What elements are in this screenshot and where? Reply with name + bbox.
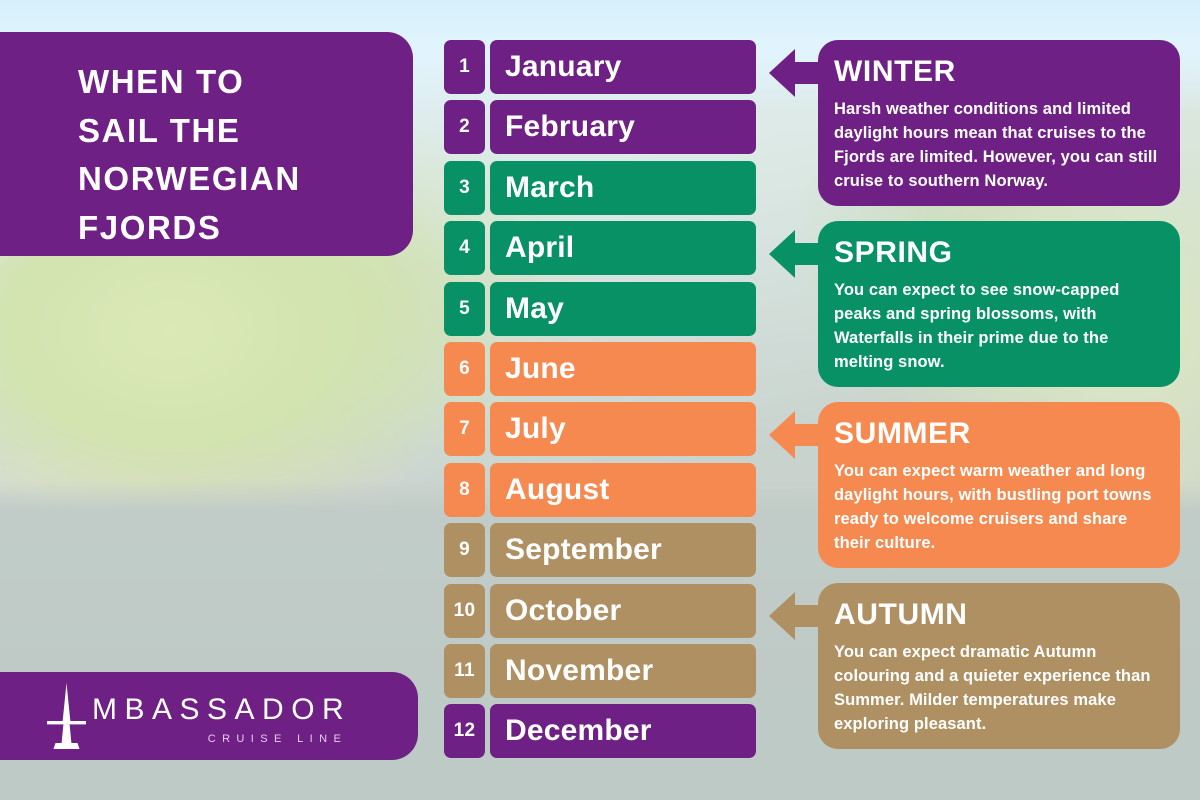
season-body-summer: You can expect warm weather and long day… [834, 459, 1158, 556]
month-number-badge: 3 [444, 161, 485, 215]
month-row[interactable]: 12December [444, 704, 756, 758]
season-title-summer: SUMMER [834, 418, 1158, 450]
page-title: WHEN TO SAIL THE NORWEGIAN FJORDS [78, 58, 301, 252]
season-body-autumn: You can expect dramatic Autumn colouring… [834, 640, 1158, 737]
month-number-badge: 4 [444, 221, 485, 275]
month-number-badge: 5 [444, 282, 485, 336]
month-row[interactable]: 9September [444, 523, 756, 577]
ambassador-a-monogram-icon [44, 683, 90, 749]
month-label: January [490, 40, 756, 94]
month-label: June [490, 342, 756, 396]
season-panel-autumn: AUTUMN You can expect dramatic Autumn co… [818, 583, 1180, 749]
brand-tagline: CRUISE LINE [92, 734, 351, 745]
month-label: February [490, 100, 756, 154]
infographic-canvas: WHEN TO SAIL THE NORWEGIAN FJORDS 1Janua… [0, 0, 1200, 800]
month-label: July [490, 402, 756, 456]
title-card: WHEN TO SAIL THE NORWEGIAN FJORDS [0, 32, 413, 256]
month-label: March [490, 161, 756, 215]
season-body-spring: You can expect to see snow-capped peaks … [834, 278, 1158, 375]
season-title-winter: WINTER [834, 56, 1158, 88]
month-row[interactable]: 4April [444, 221, 756, 275]
month-label: November [490, 644, 756, 698]
month-row[interactable]: 7July [444, 402, 756, 456]
month-number-badge: 1 [444, 40, 485, 94]
brand-logo-card: MBASSADOR CRUISE LINE [0, 672, 418, 760]
month-label: May [490, 282, 756, 336]
month-label: August [490, 463, 756, 517]
month-number-badge: 2 [444, 100, 485, 154]
month-number-badge: 7 [444, 402, 485, 456]
brand-logo-wordmark: MBASSADOR CRUISE LINE [92, 695, 351, 749]
month-number-badge: 10 [444, 584, 485, 638]
month-row[interactable]: 1January [444, 40, 756, 94]
month-number-badge: 9 [444, 523, 485, 577]
month-label: December [490, 704, 756, 758]
month-row[interactable]: 5May [444, 282, 756, 336]
month-row[interactable]: 8August [444, 463, 756, 517]
month-label: April [490, 221, 756, 275]
brand-name: MBASSADOR [92, 695, 351, 725]
season-body-winter: Harsh weather conditions and limited day… [834, 97, 1158, 194]
month-label: October [490, 584, 756, 638]
season-title-autumn: AUTUMN [834, 599, 1158, 631]
month-row[interactable]: 3March [444, 161, 756, 215]
month-row[interactable]: 6June [444, 342, 756, 396]
season-panel-spring: SPRING You can expect to see snow-capped… [818, 221, 1180, 387]
month-label: September [490, 523, 756, 577]
month-list: 1January2February3March4April5May6June7J… [444, 40, 756, 765]
month-row[interactable]: 11November [444, 644, 756, 698]
month-number-badge: 6 [444, 342, 485, 396]
season-title-spring: SPRING [834, 237, 1158, 269]
brand-logo: MBASSADOR CRUISE LINE [44, 683, 351, 749]
season-panel-winter: WINTER Harsh weather conditions and limi… [818, 40, 1180, 206]
month-row[interactable]: 10October [444, 584, 756, 638]
month-number-badge: 8 [444, 463, 485, 517]
month-number-badge: 12 [444, 704, 485, 758]
month-row[interactable]: 2February [444, 100, 756, 154]
month-number-badge: 11 [444, 644, 485, 698]
season-panel-summer: SUMMER You can expect warm weather and l… [818, 402, 1180, 568]
